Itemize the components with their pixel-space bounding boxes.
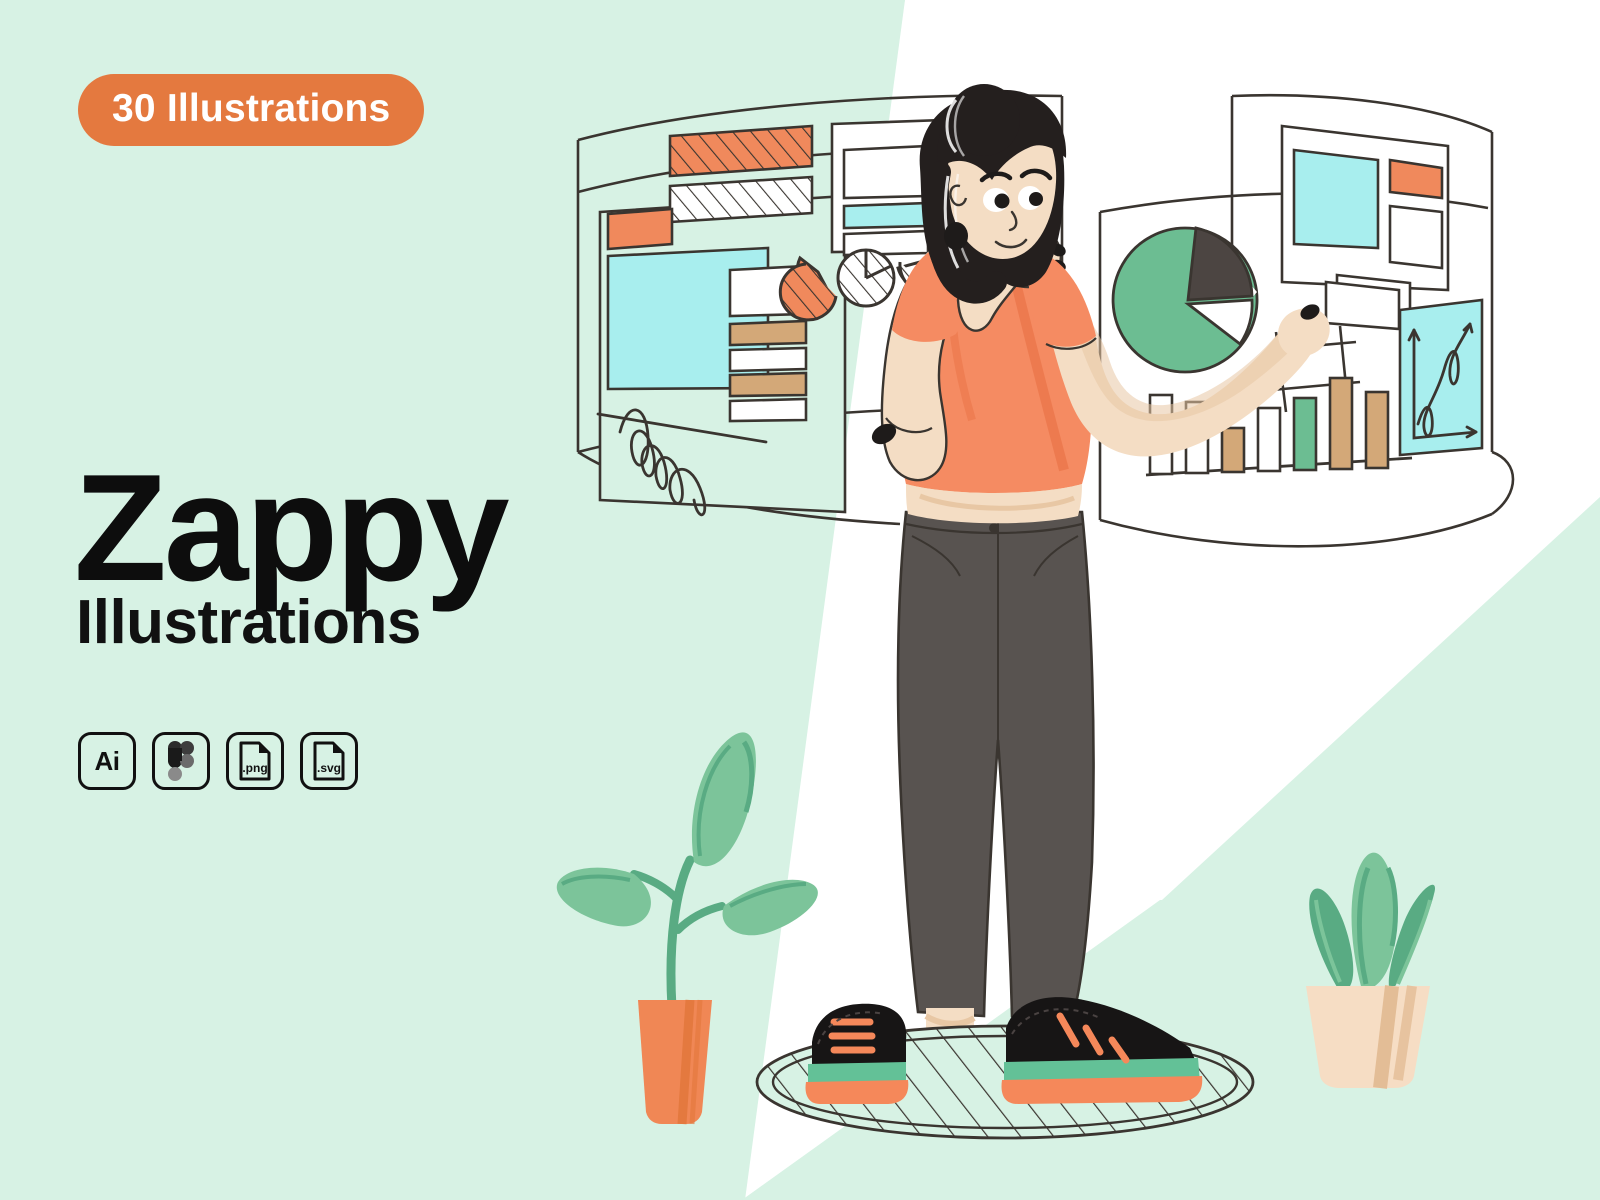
left-panel-header-bar [608,209,672,249]
png-label: .png [242,761,267,775]
left-panel-list-row-2 [730,348,806,371]
card-top-white-rect [844,146,928,198]
format-badge-figma[interactable] [152,732,210,790]
png-file-icon: .png [237,740,273,782]
left-panel-list-row-4 [730,399,806,421]
bar-5 [1294,398,1316,470]
bar-6 [1330,378,1352,469]
right-card-orange-bar [1390,160,1442,198]
illustration-canvas [0,0,1600,1200]
svg-label: .svg [317,761,341,775]
format-badge-png[interactable]: .png [226,732,284,790]
left-panel-striped-bar-orange [670,126,812,176]
floating-pie-icon-2 [838,250,894,306]
bar-3 [1222,428,1244,472]
right-panel-pie-chart [1113,226,1257,372]
illustration-count-badge: 30 Illustrations [78,74,424,146]
format-badge-list: Ai .png [78,732,358,790]
format-badge-ai[interactable]: Ai [78,732,136,790]
right-panel-top-card [1282,126,1448,290]
right-card-white-rect [1390,206,1442,268]
bar-7 [1366,392,1388,468]
right-panel-trend-card [1400,300,1482,455]
adobe-illustrator-icon: Ai [95,746,120,777]
format-badge-svg[interactable]: .svg [300,732,358,790]
left-panel-list-row-3 [730,373,806,396]
character-earring [944,222,968,250]
right-card-cyan-block [1294,150,1378,248]
left-panel-striped-bar-white [670,177,812,222]
bar-4 [1258,408,1280,471]
left-panel-list-row-1 [730,321,806,345]
figma-icon [166,741,196,781]
right-panel-pointer-rect [1326,275,1410,329]
svg-file-icon: .svg [311,740,347,782]
card-top-cyan-bar [844,203,928,228]
